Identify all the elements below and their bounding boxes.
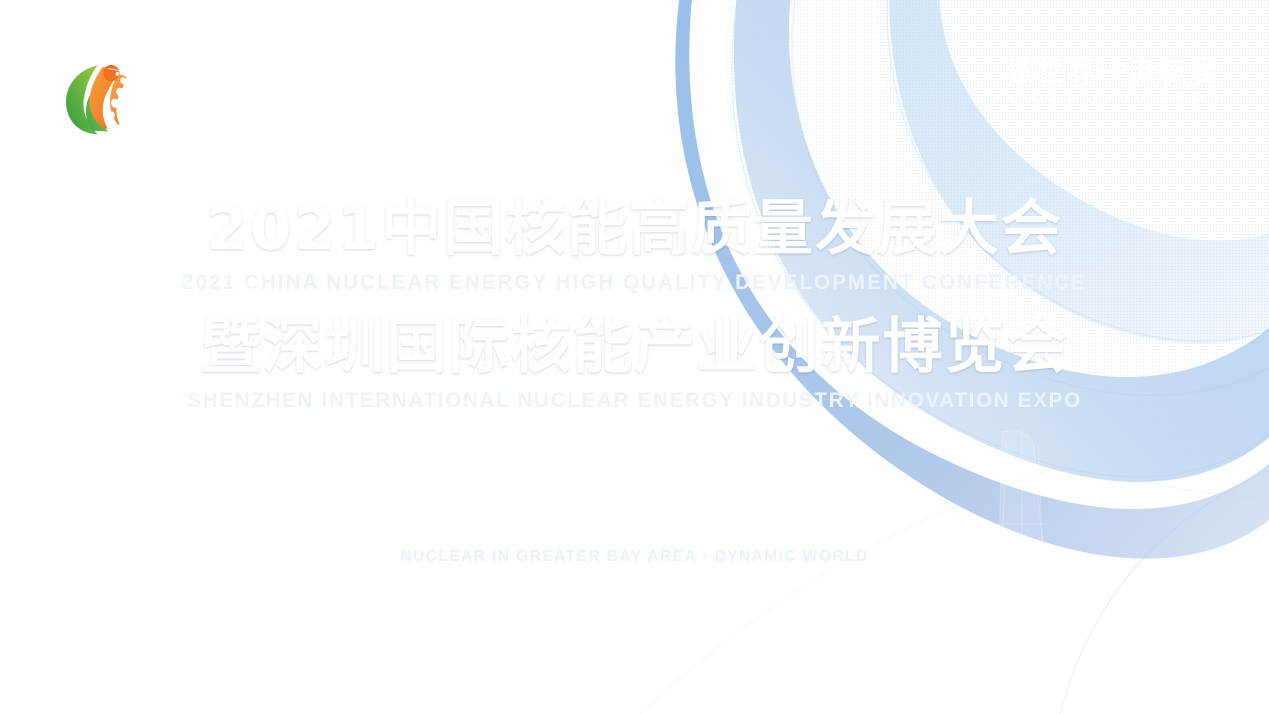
main-title-cn: 2021中国核能高质量发展大会 [0,196,1269,263]
tagline-en: NUCLEAR IN GREATER BAY AREA · DYNAMIC WO… [0,548,1269,566]
tagline-block: 核聚湾区·能动世界 NUCLEAR IN GREATER BAY AREA · … [0,492,1269,566]
sub-title-cn: 暨深圳国际核能产业创新博览会 [0,314,1269,381]
title-block: 2021中国核能高质量发展大会 2021 CHINA NUCLEAR ENERG… [0,196,1269,413]
sub-title-en: SHENZHEN INTERNATIONAL NUCLEAR ENERGY IN… [25,388,1243,413]
brand-name-cn: 深圳核博会 [184,109,332,137]
top-right-slogan: 做世界一流核展 A WORLD-CLASS NUCLEAR EXHIBITION [982,56,1219,105]
slogan-en: A WORLD-CLASS NUCLEAR EXHIBITION [994,93,1219,105]
cinie-globe-flame-emblem-icon [58,55,144,141]
tagline-cn: 核聚湾区·能动世界 [0,492,1269,542]
conference-banner: CINIE 深圳核博会 做世界一流核展 A WORLD-CLASS NUCLEA… [0,0,1269,714]
banner-header: CINIE 深圳核博会 做世界一流核展 A WORLD-CLASS NUCLEA… [0,0,1269,170]
logo-divider-icon [162,61,164,135]
main-title-en: 2021 CHINA NUCLEAR ENERGY HIGH QUALITY D… [25,270,1243,295]
event-info: 2021年10月28-30日 中国·深圳国际会展中心 [0,638,1269,677]
event-date: 2021年10月28-30日 [338,645,608,676]
brand-name-en: CINIE [184,59,332,104]
brand-logo[interactable]: CINIE 深圳核博会 [58,48,332,148]
event-venue: 中国·深圳国际会展中心 [647,645,931,676]
brand-wordmark: CINIE 深圳核博会 [184,59,332,137]
slogan-cn: 做世界一流核展 [982,56,1219,88]
